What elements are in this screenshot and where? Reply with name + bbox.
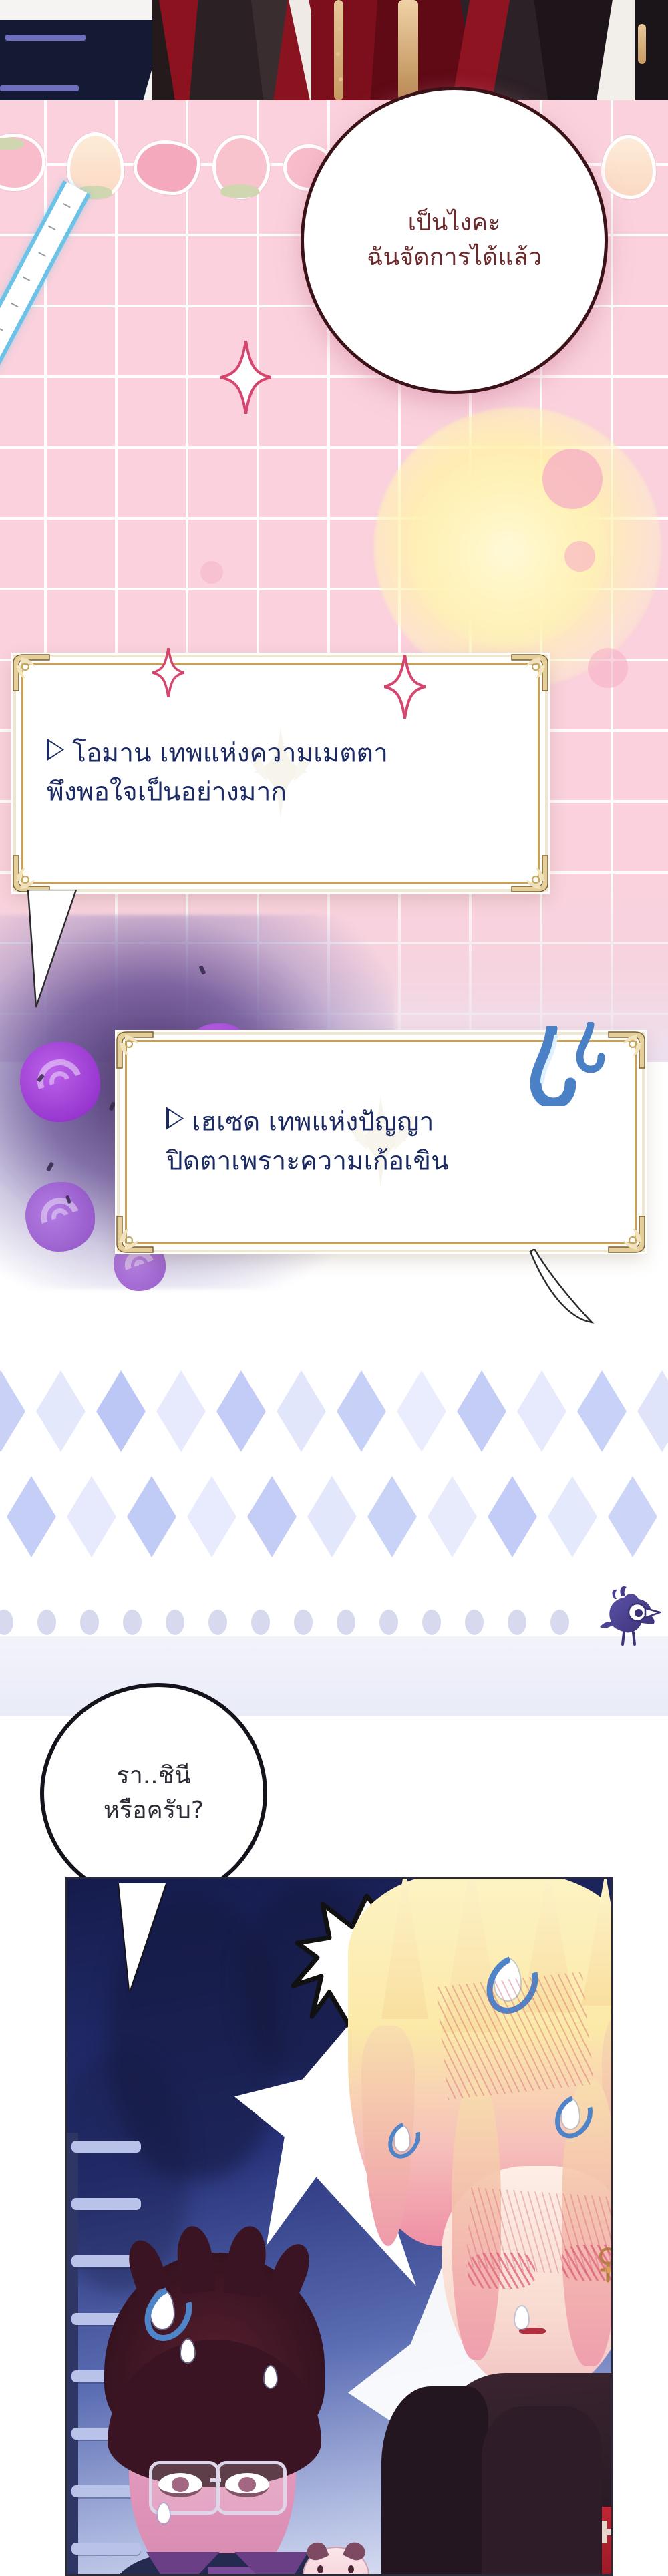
gold-bead (339, 77, 343, 81)
bokeh-circle (200, 561, 223, 584)
webtoon-page: โอมาน เทพแห่งความเมตตา พึงพอใจเป็นอย่างม… (0, 0, 668, 2576)
gold-corner-ornament (11, 853, 52, 894)
speech-bubble-4: รา..ชินี หรือครับ? (40, 1683, 267, 1903)
speed-lines (436, 1972, 595, 2100)
top-art-panel (0, 0, 668, 100)
bokeh-circle (564, 541, 595, 572)
sweat-drop-icon (529, 1026, 576, 1106)
bubble-1-line1: เป็นไงคะ (408, 206, 501, 240)
system-box-1-marker (47, 738, 72, 768)
sweat-drop (265, 2366, 277, 2388)
gold-corner-ornament (509, 652, 550, 693)
system-box-1-line2: พึงพอใจเป็นอย่างมาก (47, 773, 388, 813)
sweat-drop (515, 2306, 528, 2329)
system-box-2-marker (166, 1107, 192, 1137)
system-box-1-line1: โอมาน เทพแห่งความเมตตา (72, 738, 388, 768)
gold-corner-ornament (114, 1029, 156, 1071)
glasses-bridge (210, 2478, 221, 2482)
piglet-eye (317, 2565, 323, 2573)
system-box-2-line2: ปิดตาเพราะความเก้อเขิน (166, 1142, 449, 1181)
system-message-box-1: โอมาน เทพแห่งความเมตตา พึงพอใจเป็นอย่างม… (13, 655, 548, 892)
gold-bead (337, 27, 341, 31)
gold-embroidery (398, 0, 418, 100)
sleeve (482, 2406, 602, 2576)
system-box-2-text: เฮเซด เทพแห่งปัญญา ปิดตาเพราะความเก้อเขิ… (166, 1103, 449, 1181)
gold-clasp (638, 24, 646, 64)
bokeh-circle (588, 648, 628, 688)
piglet-eye (348, 2565, 354, 2573)
sparkle-icon (220, 341, 271, 414)
gold-bead (336, 52, 340, 56)
gold-corner-ornament (509, 853, 550, 894)
bubble-4-line1: รา..ชินี (116, 1759, 190, 1793)
system-box-1-text: โอมาน เทพแห่งความเมตตา พึงพอใจเป็นอย่างม… (47, 734, 388, 812)
leaf-tip (0, 138, 24, 150)
bokeh-circle (542, 449, 603, 509)
sparkle-icon (152, 648, 184, 697)
purple-swirl (20, 1042, 100, 1122)
system-box-2-line1: เฮเซด เทพแห่งปัญญา (192, 1107, 434, 1137)
sleeve (381, 2386, 488, 2576)
bubble-1-line2: ฉันจัดการได้แล้ว (367, 240, 542, 275)
dot-border (0, 1610, 668, 1640)
speech-bubble-4-tail (119, 1883, 166, 1990)
sweat-drop-icon (576, 1022, 605, 1073)
speech-bubble-1: เป็นไงคะ ฉันจัดการได้แล้ว (301, 87, 608, 394)
gold-corner-ornament (114, 1214, 156, 1255)
gold-trim (334, 0, 343, 100)
gold-corner-ornament (606, 1214, 647, 1255)
gold-corner-ornament (11, 652, 52, 693)
speed-lines (466, 2187, 613, 2278)
purple-swirl (25, 1182, 95, 1252)
navy-stripe (0, 85, 79, 91)
sweat-drop (158, 2503, 170, 2523)
system-box-1-tail (27, 890, 107, 1010)
system-box-2-tail (528, 1249, 608, 1349)
bubble-4-line2: หรือครับ? (104, 1793, 204, 1828)
sweat-drop (181, 2340, 194, 2362)
diamond-pattern-section (0, 1296, 668, 1716)
navy-stripe (5, 35, 86, 41)
glasses-icon (216, 2461, 287, 2515)
bird-icon (595, 1583, 661, 1646)
sparkle-icon (384, 655, 426, 719)
gold-corner-ornament (606, 1029, 647, 1071)
leaf-tip (220, 184, 259, 198)
